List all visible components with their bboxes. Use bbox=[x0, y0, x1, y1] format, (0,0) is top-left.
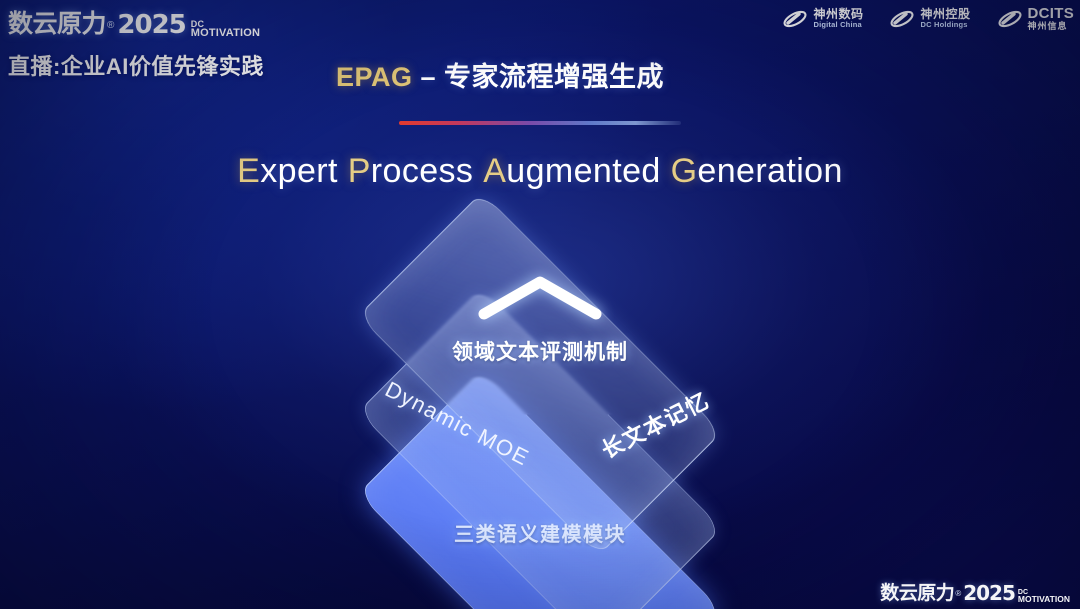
partner-logo-group: 神州数码 Digital China 神州控股 DC Holdings bbox=[782, 6, 1074, 31]
partner-label: 神州控股 DC Holdings bbox=[920, 8, 970, 28]
footer-registered-mark: ® bbox=[955, 589, 961, 598]
partner-logo-digital-china: 神州数码 Digital China bbox=[782, 7, 863, 31]
footer-brand-year: 2025 bbox=[963, 581, 1015, 605]
brand-logo: 数云原力 ® 2025 DC MOTIVATION bbox=[8, 4, 260, 40]
brand-tagline: DC MOTIVATION bbox=[191, 20, 260, 38]
subtitle-cap-4: G bbox=[671, 152, 698, 190]
swoosh-logo-icon bbox=[782, 7, 808, 31]
partner-logo-dcits: DCITS 神州信息 bbox=[997, 6, 1075, 31]
brand-tagline-line2: MOTIVATION bbox=[191, 28, 260, 38]
gradient-divider bbox=[399, 121, 681, 125]
partner-logo-dc-holdings: 神州控股 DC Holdings bbox=[889, 7, 970, 31]
partner-name-en: Digital China bbox=[813, 21, 863, 29]
footer-brand-name-cn: 数云原力 bbox=[880, 578, 954, 605]
brand-name-cn: 数云原力 bbox=[8, 4, 106, 40]
subtitle-cap-2: P bbox=[348, 152, 371, 190]
subtitle-english: Expert Process Augmented Generation bbox=[0, 152, 1080, 191]
swoosh-logo-icon bbox=[889, 7, 915, 31]
slide-title: EPAG – 专家流程增强生成 bbox=[336, 55, 664, 94]
stack-label-bottom: 三类语义建模模块 bbox=[454, 518, 626, 547]
subtitle-rest-3: ugmented bbox=[506, 152, 660, 190]
partner-name-en: DC Holdings bbox=[920, 21, 970, 29]
registered-mark: ® bbox=[107, 20, 114, 31]
partner-label: 神州数码 Digital China bbox=[813, 8, 863, 28]
subtitle-rest-2: rocess bbox=[371, 152, 474, 190]
brand-year: 2025 bbox=[117, 10, 185, 40]
footer-tagline-line2: MOTIVATION bbox=[1018, 596, 1070, 604]
subtitle-cap-3: A bbox=[483, 152, 506, 190]
footer-watermark-logo: 数云原力 ® 2025 DC MOTIVATION bbox=[880, 578, 1070, 605]
footer-brand-tagline: DC MOTIVATION bbox=[1018, 590, 1070, 604]
partner-label: DCITS 神州信息 bbox=[1028, 6, 1075, 31]
swoosh-logo-icon bbox=[997, 7, 1023, 31]
subtitle-rest-1: xpert bbox=[260, 152, 338, 190]
partner-name-cn: 神州信息 bbox=[1028, 22, 1075, 31]
stack-layer-top-surface bbox=[358, 192, 722, 556]
title-acronym: EPAG bbox=[336, 62, 413, 92]
layered-stack-diagram: 领域文本评测机制 Dynamic MOE 长文本记忆 三类语义建模模块 bbox=[300, 246, 780, 576]
partner-name-en: DCITS bbox=[1028, 6, 1075, 22]
title-rest: – 专家流程增强生成 bbox=[413, 62, 665, 92]
stack-layer-top bbox=[370, 204, 710, 544]
live-stream-label: 直播:企业AI价值先锋实践 bbox=[8, 49, 264, 81]
subtitle-rest-4: eneration bbox=[697, 152, 842, 190]
slide-canvas: 数云原力 ® 2025 DC MOTIVATION 直播:企业AI价值先锋实践 … bbox=[0, 0, 1080, 609]
subtitle-cap-1: E bbox=[237, 152, 260, 190]
stack-label-top: 领域文本评测机制 bbox=[452, 336, 628, 366]
